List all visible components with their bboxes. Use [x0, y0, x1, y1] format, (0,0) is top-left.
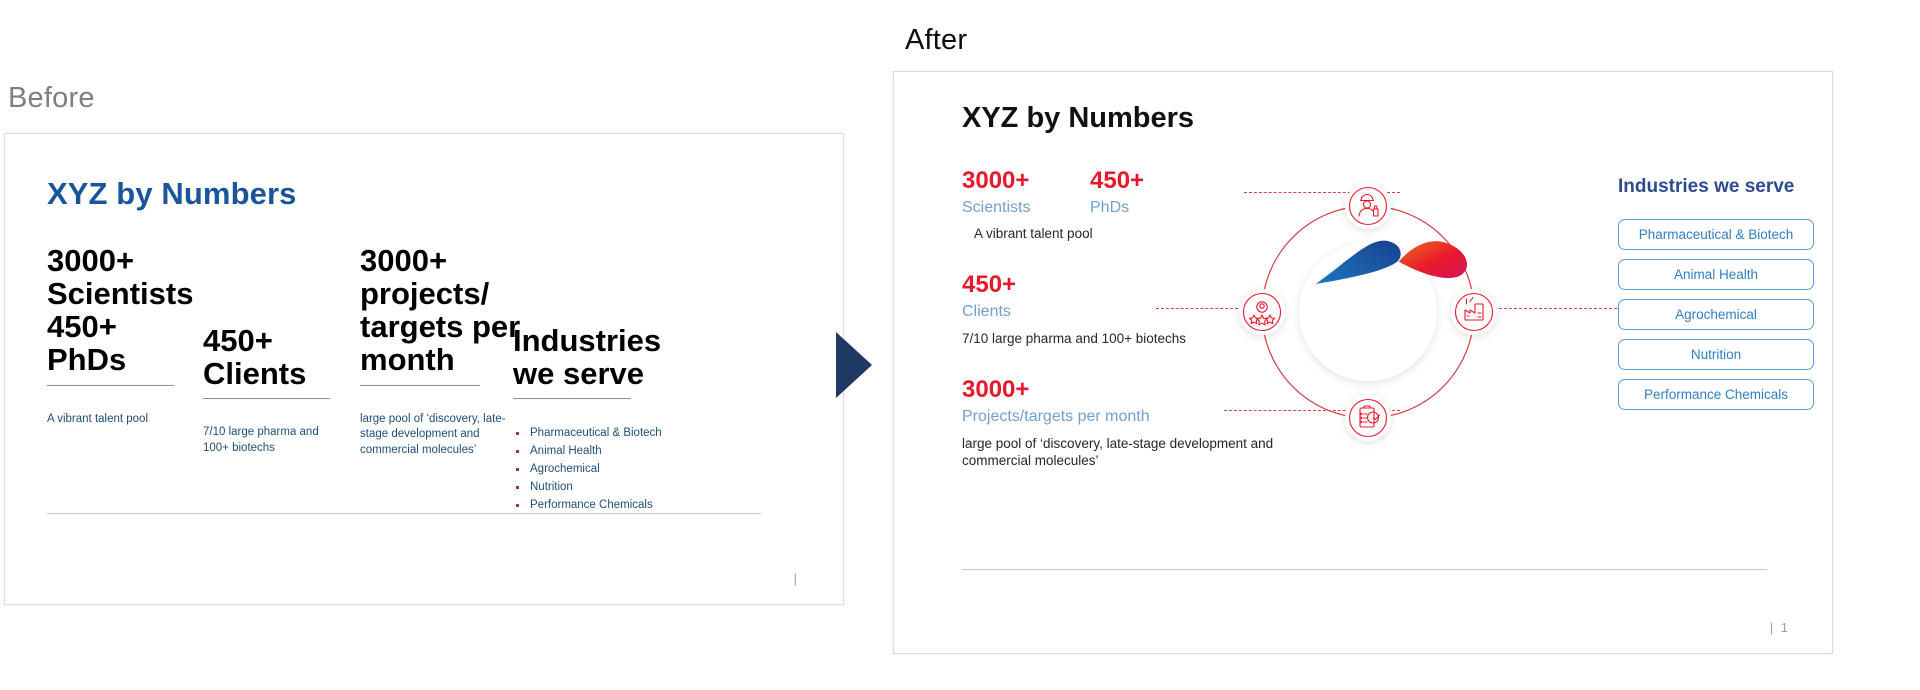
page-mark-bar: | [1770, 620, 1775, 635]
industry-item-pharmaceutical-biotech[interactable]: Pharmaceutical & Biotech [1618, 219, 1814, 250]
before-column-caption: 7/10 large pharma and 100+ biotechs [203, 425, 327, 457]
talent-pool-note: A vibrant talent pool [974, 226, 1093, 241]
after-page-mark: | 1 [1770, 620, 1790, 635]
stat-label: PhDs [1090, 198, 1210, 217]
stat-number: 450+ [1090, 168, 1210, 194]
list-item: Performance Chemicals [513, 497, 662, 515]
industry-item-animal-health[interactable]: Animal Health [1618, 259, 1814, 290]
before-industry-bullet-list: Pharmaceutical & Biotech Animal Health A… [513, 425, 662, 514]
stat-clients: 450+ Clients 7/10 large pharma and 100+ … [962, 272, 1262, 347]
list-item: Animal Health [513, 443, 662, 461]
stat-number: 450+ [962, 272, 1262, 298]
industries-heading: Industries we serve [1618, 176, 1794, 198]
column-divider-rule [513, 398, 631, 399]
stat-phds: 450+ PhDs [1090, 168, 1210, 218]
stat-number: 3000+ [962, 168, 1082, 194]
column-divider-rule [203, 398, 330, 399]
before-column-heading: 3000+ Scientists 450+ PhDs [47, 244, 193, 377]
before-column-heading: Industries we serve [513, 324, 662, 390]
before-column-scientists: 3000+ Scientists 450+ PhDs A vibrant tal… [47, 244, 193, 427]
column-divider-rule [360, 385, 480, 386]
client-award-icon-badge [1239, 289, 1285, 335]
before-slide-title: XYZ by Numbers [47, 176, 296, 212]
connector-line-right [1494, 308, 1622, 309]
stat-note: 7/10 large pharma and 100+ biotechs [962, 330, 1262, 348]
column-divider-rule [47, 385, 174, 386]
stat-scientists: 3000+ Scientists [962, 168, 1082, 218]
after-section-label: After [905, 24, 967, 57]
before-slide: XYZ by Numbers 3000+ Scientists 450+ PhD… [4, 133, 844, 605]
page-number: 1 [1781, 620, 1790, 635]
before-column-caption: A vibrant talent pool [47, 412, 171, 428]
before-column-heading: 3000+ projects/ targets per month [360, 244, 520, 377]
after-footer-divider [962, 569, 1767, 570]
after-slide: XYZ by Numbers 3000+ Scientists 450+ PhD… [893, 71, 1833, 654]
flow-arrow-icon [836, 332, 872, 398]
factory-icon-badge [1451, 289, 1497, 335]
industries-list: Pharmaceutical & Biotech Animal Health A… [1618, 219, 1814, 419]
list-item: Agrochemical [513, 461, 662, 479]
industry-item-nutrition[interactable]: Nutrition [1618, 339, 1814, 370]
stat-label: Scientists [962, 198, 1082, 217]
clipboard-check-icon-badge [1345, 395, 1391, 441]
before-page-mark: | [794, 571, 799, 586]
before-column-projects: 3000+ projects/ targets per month large … [360, 244, 520, 459]
before-column-caption: large pool of ‘discovery, late-stage dev… [360, 412, 510, 460]
list-item: Nutrition [513, 479, 662, 497]
before-column-clients: 450+ Clients 7/10 large pharma and 100+ … [203, 324, 330, 457]
before-column-heading: 450+ Clients [203, 324, 330, 390]
industry-item-performance-chemicals[interactable]: Performance Chemicals [1618, 379, 1814, 410]
after-slide-title: XYZ by Numbers [962, 102, 1194, 135]
list-item: Pharmaceutical & Biotech [513, 425, 662, 443]
circular-diagram [1224, 168, 1512, 456]
industry-item-agrochemical[interactable]: Agrochemical [1618, 299, 1814, 330]
before-section-label: Before [8, 82, 95, 115]
scientist-icon-badge [1345, 183, 1391, 229]
slide-comparison-canvas: Before After XYZ by Numbers 3000+ Scient… [0, 0, 1920, 690]
stat-label: Clients [962, 302, 1262, 321]
before-column-industries: Industries we serve Pharmaceutical & Bio… [513, 324, 662, 514]
before-footer-divider [47, 513, 761, 514]
